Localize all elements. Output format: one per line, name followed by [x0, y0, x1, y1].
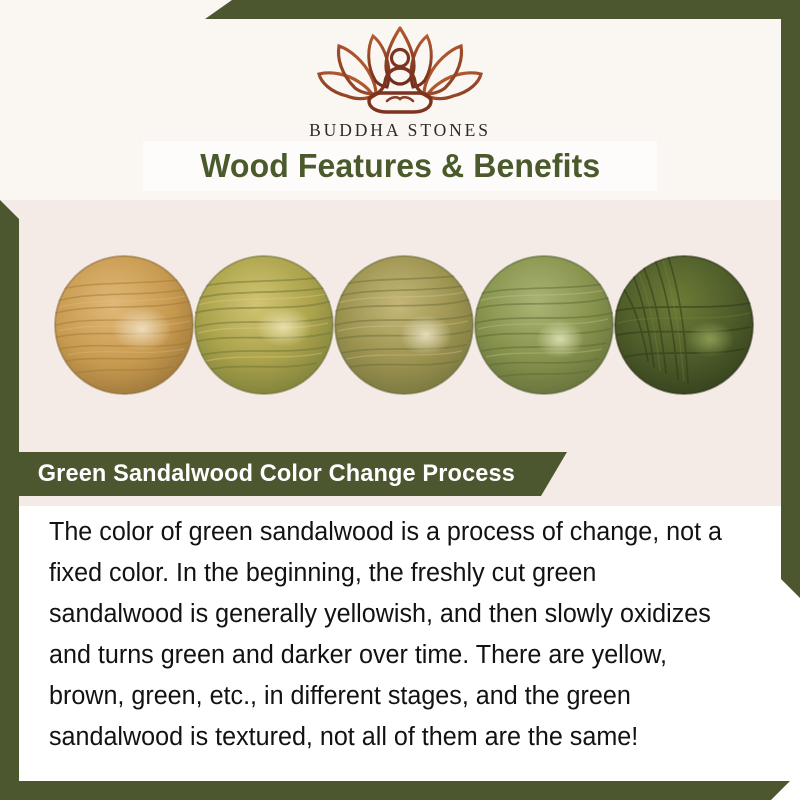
poster-root: BUDDHA STONES Wood Features & Benefits — [0, 0, 800, 800]
bead-stage-5 — [614, 255, 754, 395]
page-title: Wood Features & Benefits — [200, 147, 600, 185]
brand-block: BUDDHA STONES — [0, 22, 800, 141]
bead-stage-4 — [474, 255, 614, 395]
frame-border-top — [205, 0, 800, 19]
lotus-meditation-figure-icon — [307, 22, 493, 114]
page-title-band: Wood Features & Benefits — [143, 141, 657, 191]
bead-stage-2 — [194, 255, 334, 395]
section-heading: Green Sandalwood Color Change Process — [24, 460, 515, 488]
body-panel: The color of green sandalwood is a proce… — [19, 512, 771, 758]
bead-color-stage-row — [0, 255, 800, 405]
frame-border-bottom — [0, 781, 790, 800]
brand-name: BUDDHA STONES — [0, 120, 800, 141]
bead-stage-3 — [334, 255, 474, 395]
section-heading-banner: Green Sandalwood Color Change Process — [19, 452, 567, 496]
body-paragraph: The color of green sandalwood is a proce… — [49, 512, 731, 758]
bead-stage-1 — [54, 255, 194, 395]
